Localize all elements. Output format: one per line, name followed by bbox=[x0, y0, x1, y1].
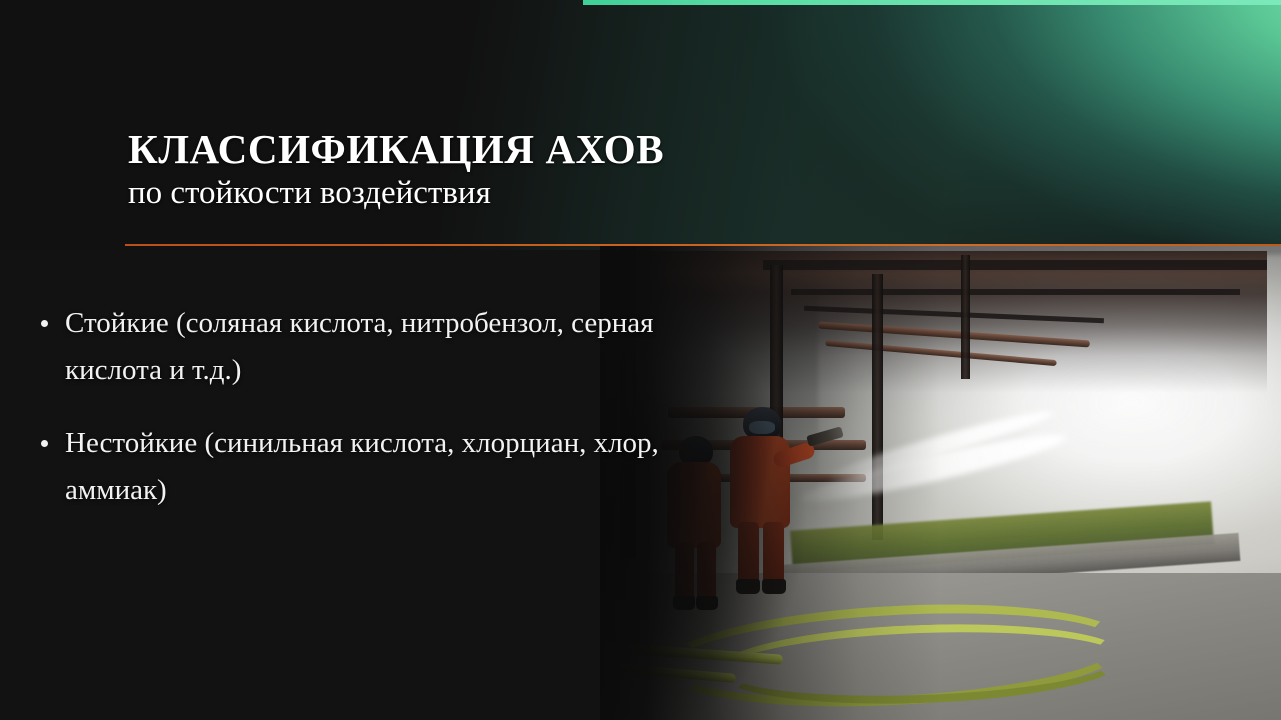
photo-column bbox=[961, 255, 970, 378]
boot bbox=[673, 596, 695, 610]
list-item: Стойкие (соляная кислота, нитробензол, с… bbox=[34, 300, 674, 394]
boot bbox=[696, 596, 718, 610]
suit-leg bbox=[763, 522, 784, 584]
list-item-label: Стойкие (соляная кислота, нитробензол, с… bbox=[65, 307, 653, 386]
presentation-slide: КЛАССИФИКАЦИЯ АХОВ по стойкости воздейст… bbox=[0, 0, 1281, 720]
suit-leg bbox=[697, 542, 716, 600]
firefighter-front bbox=[723, 407, 807, 603]
photo-pipe-gantry bbox=[614, 251, 1268, 393]
page-title: КЛАССИФИКАЦИЯ АХОВ bbox=[128, 128, 664, 171]
photo-content bbox=[600, 246, 1281, 720]
title-block: КЛАССИФИКАЦИЯ АХОВ по стойкости воздейст… bbox=[128, 128, 664, 211]
bullet-list: Стойкие (соляная кислота, нитробензол, с… bbox=[34, 300, 674, 540]
photo-beam bbox=[791, 289, 1240, 295]
bullet-dot-icon bbox=[41, 440, 48, 447]
green-gradient-wash bbox=[0, 0, 1281, 250]
list-item: Нестойкие (синильная кислота, хлорциан, … bbox=[34, 420, 674, 514]
suit-leg bbox=[675, 542, 694, 600]
top-accent-bar bbox=[583, 0, 1281, 5]
list-item-label: Нестойкие (синильная кислота, хлорциан, … bbox=[65, 427, 659, 506]
boot bbox=[736, 579, 760, 594]
slide-photo bbox=[600, 246, 1281, 720]
suit-leg bbox=[738, 522, 759, 584]
page-subtitle: по стойкости воздействия bbox=[128, 175, 664, 211]
protective-suit bbox=[667, 462, 721, 548]
photo-column bbox=[872, 274, 883, 539]
boot bbox=[762, 579, 786, 594]
helmet-visor bbox=[749, 421, 775, 434]
bullet-dot-icon bbox=[41, 320, 48, 327]
title-divider-rule bbox=[125, 244, 1281, 246]
photo-beam bbox=[763, 260, 1267, 270]
